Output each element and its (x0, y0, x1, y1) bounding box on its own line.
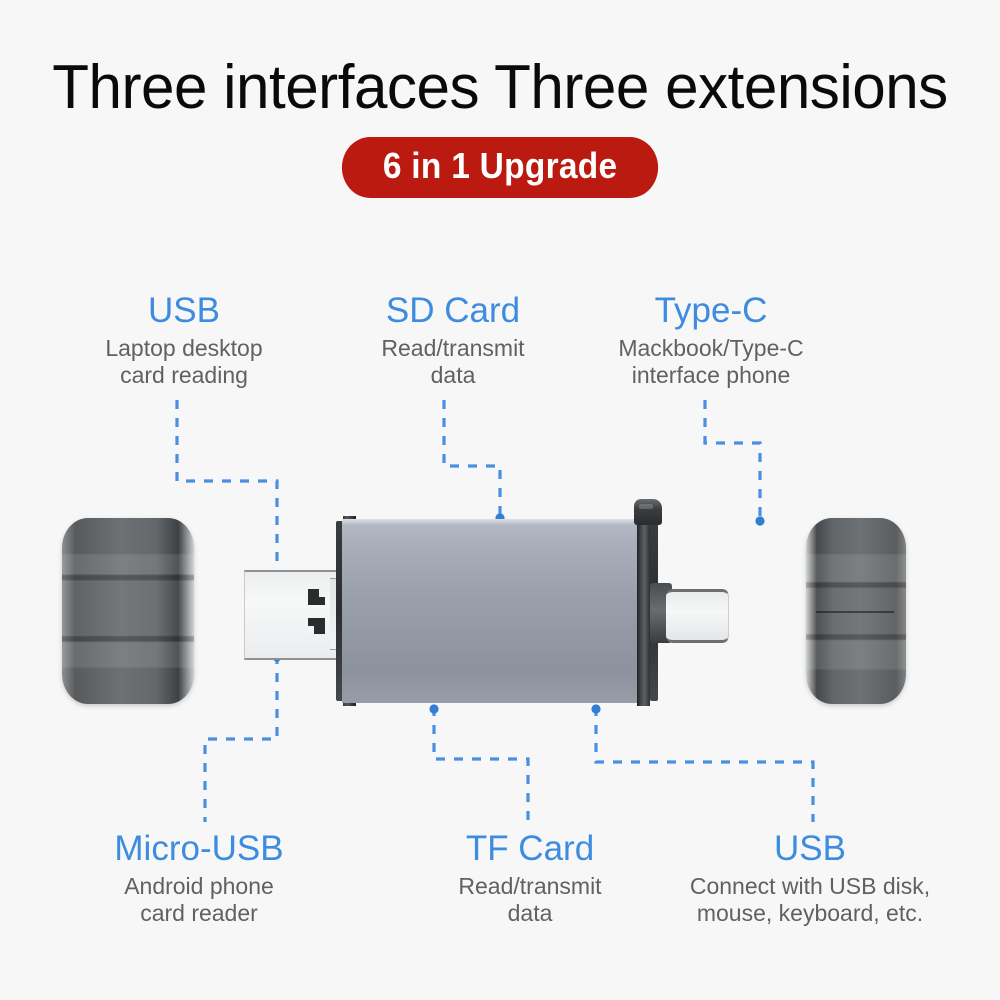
usb-a-connector (244, 570, 337, 660)
infographic-page: Three interfaces Three extensions 6 in 1… (0, 0, 1000, 1000)
left-protective-cap (62, 518, 194, 704)
callout-title: TF Card (370, 829, 690, 869)
right-protective-cap (806, 518, 906, 704)
callout-title: Micro-USB (39, 829, 359, 869)
usb-contact-slot-lower (308, 618, 325, 634)
callout-description: Android phone card reader (39, 873, 359, 927)
callout-type-c: Type-C Mackbook/Type-C interface phone (551, 291, 871, 389)
callout-tf-card: TF Card Read/transmit data (370, 829, 690, 927)
callout-micro-usb: Micro-USB Android phone card reader (39, 829, 359, 927)
usb-slot-notch (308, 626, 314, 634)
callout-usb-bottom: USB Connect with USB disk, mouse, keyboa… (650, 829, 970, 927)
aluminum-body (342, 519, 648, 703)
usb-contact-slot-upper (308, 589, 325, 605)
keyring-tab (634, 499, 662, 525)
type-c-connector (666, 589, 729, 643)
callout-description: Read/transmit data (370, 873, 690, 927)
callout-title: Type-C (551, 291, 871, 331)
callout-description: Mackbook/Type-C interface phone (551, 335, 871, 389)
callout-description: Connect with USB disk, mouse, keyboard, … (650, 873, 970, 927)
body-right-end-bar (637, 516, 650, 706)
usb-slot-notch (319, 589, 325, 597)
callout-title: USB (650, 829, 970, 869)
